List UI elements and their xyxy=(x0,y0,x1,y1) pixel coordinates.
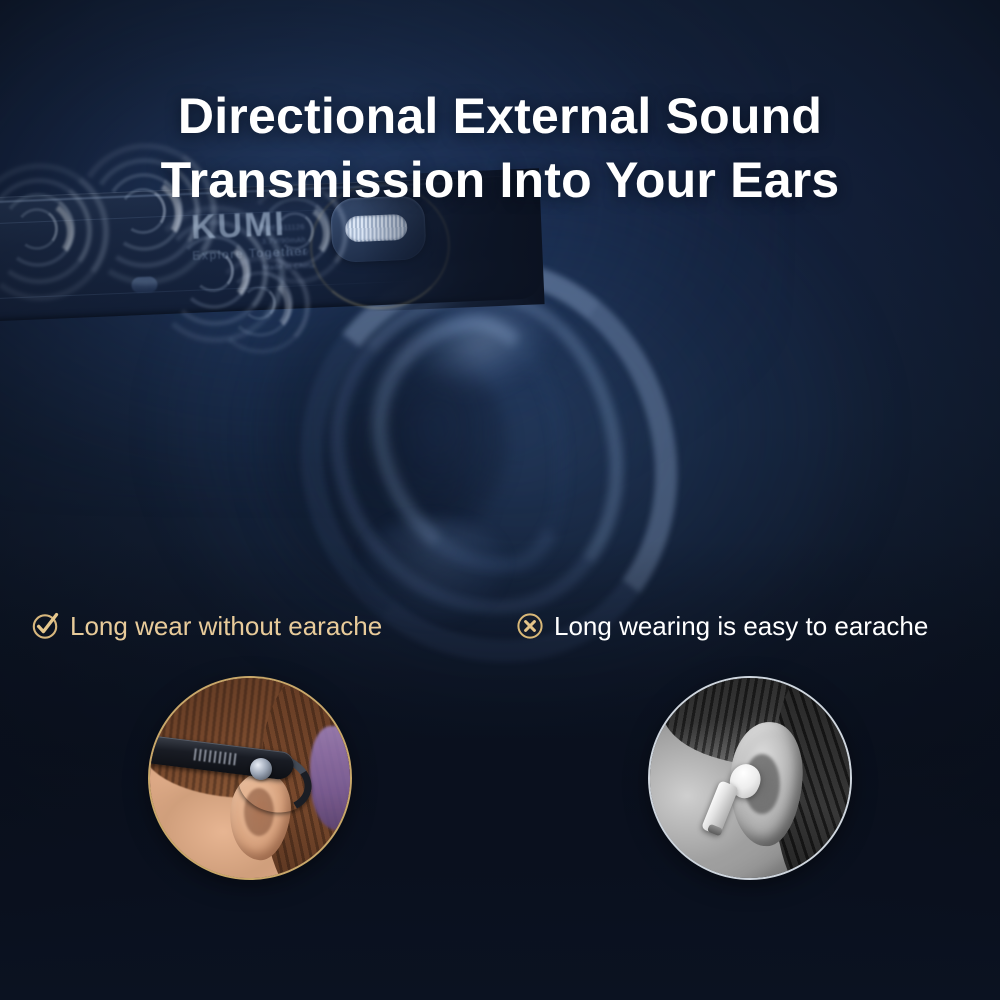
comparison-label-good-text: Long wear without earache xyxy=(70,613,382,639)
comparison-label-bad: Long wearing is easy to earache xyxy=(516,612,928,640)
cross-circle-icon xyxy=(516,612,544,640)
comparison-labels: Long wear without earache Long wearing i… xyxy=(0,612,1000,656)
photo-left-content xyxy=(150,678,350,878)
comparison-label-bad-text: Long wearing is easy to earache xyxy=(554,613,928,639)
check-circle-icon xyxy=(32,612,60,640)
page-title: Directional External Sound Transmission … xyxy=(0,84,1000,212)
page-title-line-1: Directional External Sound xyxy=(178,88,822,144)
open-ear-headphone-photo xyxy=(150,678,350,878)
page-title-line-2: Transmission Into Your Ears xyxy=(0,148,1000,212)
in-ear-earbud-photo xyxy=(650,678,850,878)
product-feature-poster: KUMI Explore Together TPE 411126 3.7V/90… xyxy=(0,0,1000,1000)
comparison-label-good: Long wear without earache xyxy=(32,612,382,640)
photo-right-content xyxy=(650,678,850,878)
photo-left-driver xyxy=(250,758,272,780)
